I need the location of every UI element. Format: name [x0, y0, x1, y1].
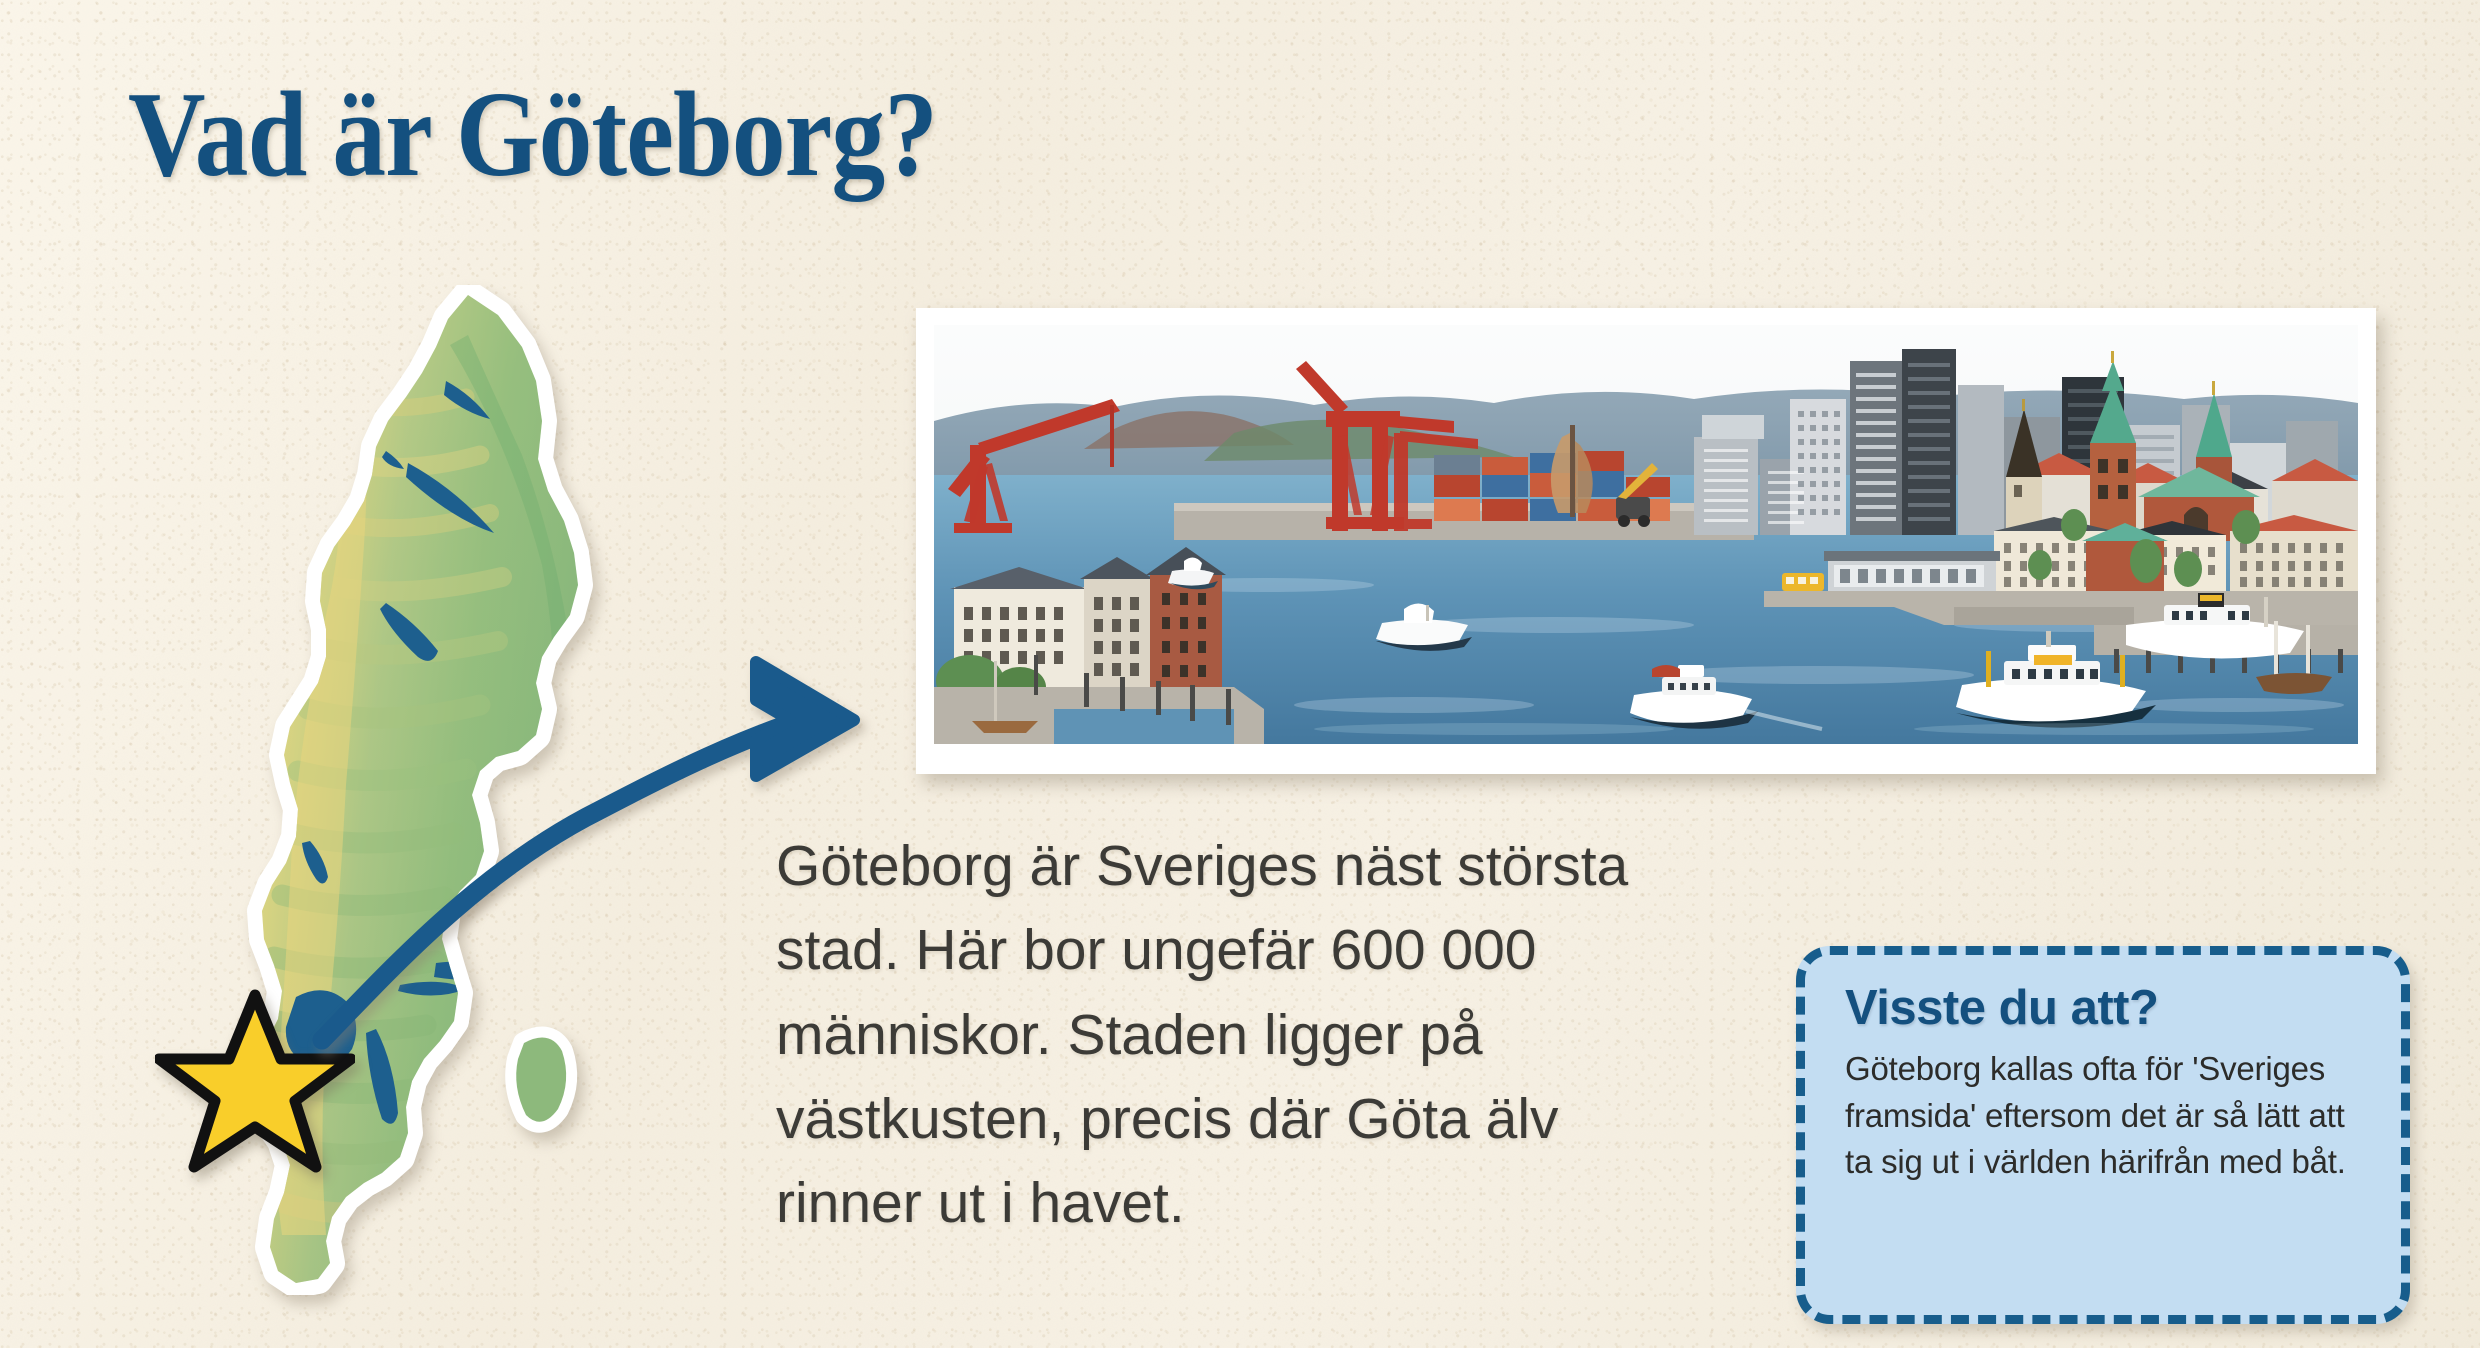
gotland-island [516, 1038, 566, 1122]
did-you-know-callout: Visste du att? Göteborg kallas ofta för … [1796, 946, 2410, 1324]
body-paragraph: Göteborg är Sveriges näst största stad. … [776, 824, 1716, 1246]
arrow-head [756, 662, 854, 776]
callout-body-text: Göteborg kallas ofta för 'Sveriges frams… [1845, 1046, 2367, 1185]
callout-heading: Visste du att? [1845, 983, 2367, 1034]
goteborg-harbour-cityscape [916, 308, 2376, 774]
star-shape [159, 995, 351, 1167]
goteborg-location-star [155, 985, 355, 1175]
page-title: Vad är Göteborg? [128, 74, 937, 196]
